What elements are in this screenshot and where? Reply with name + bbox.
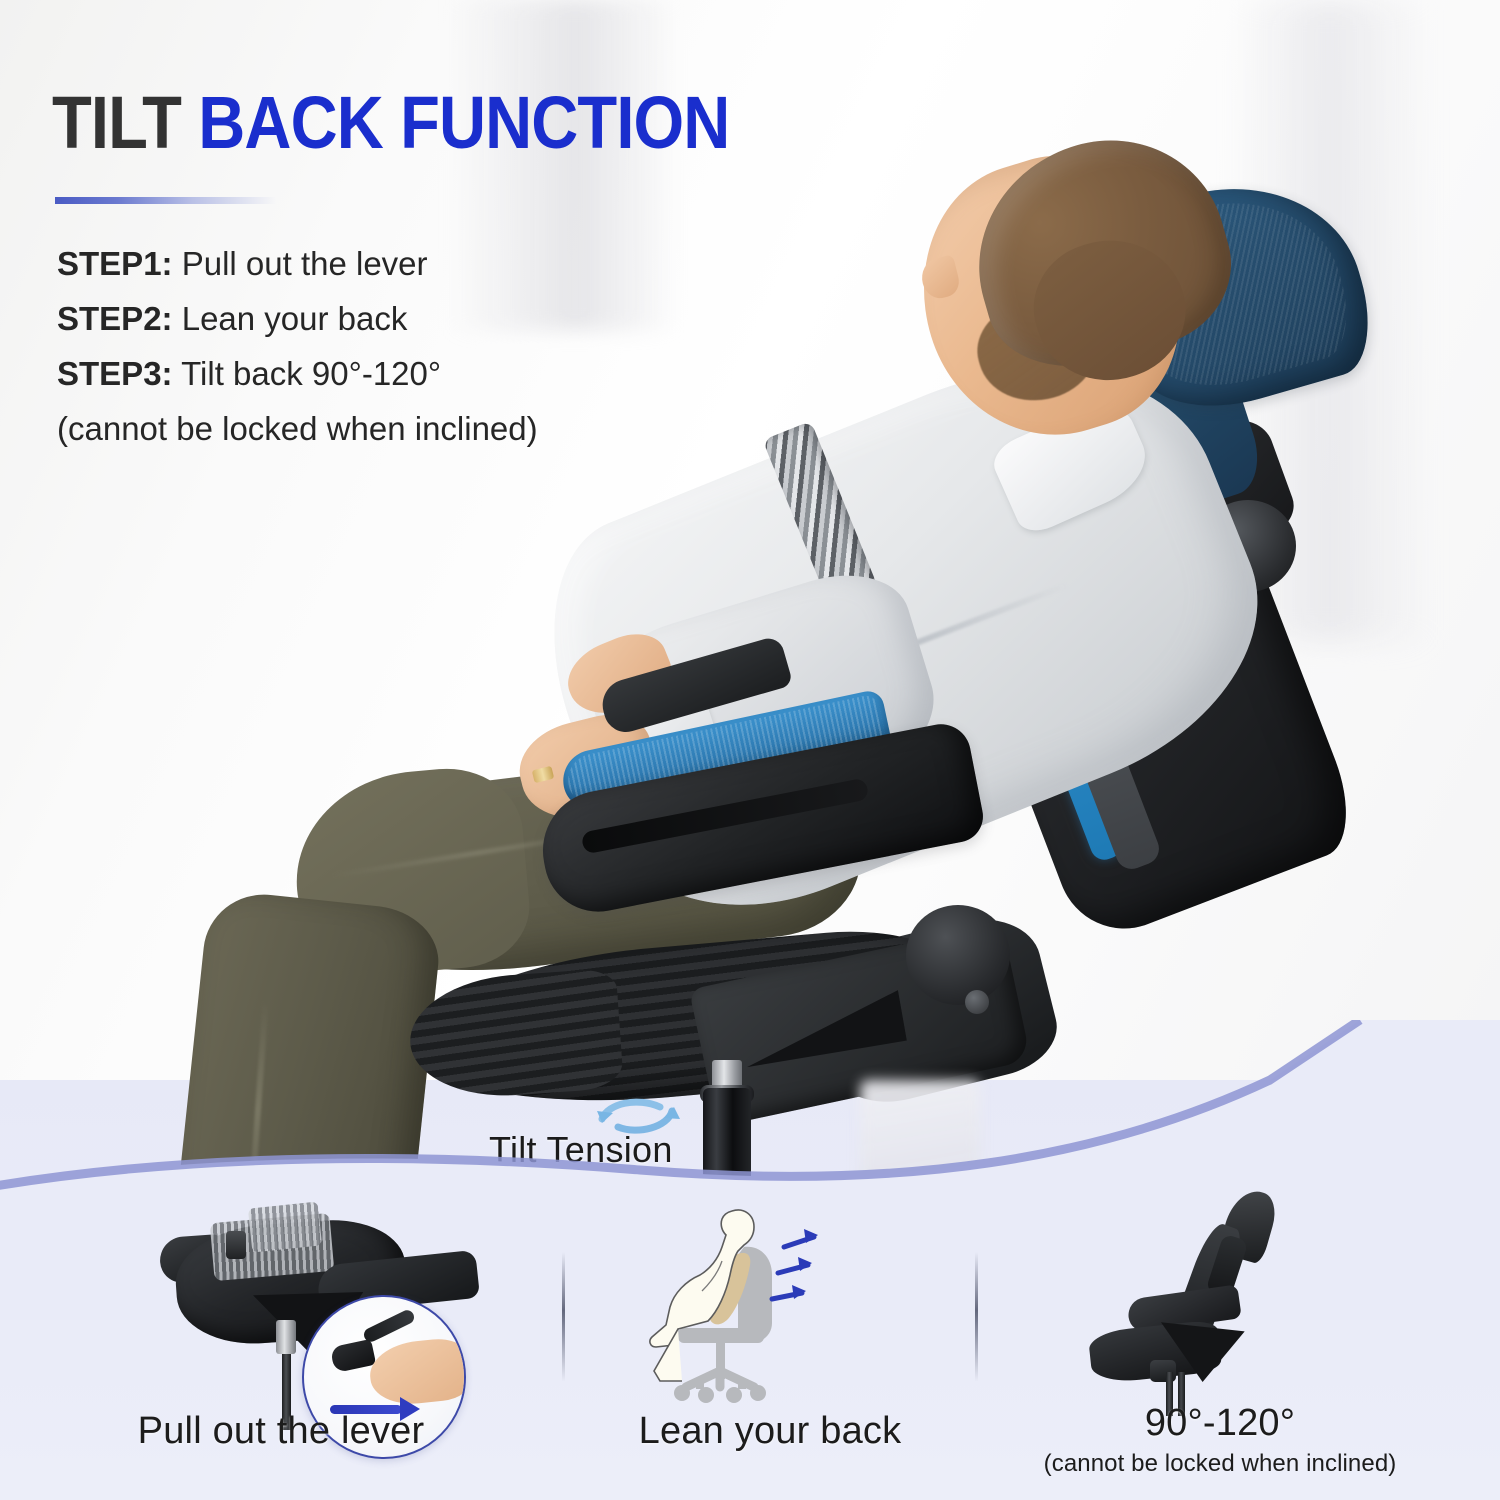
panel3-caption-note: (cannot be locked when inclined) xyxy=(985,1450,1455,1478)
title-underline-rule xyxy=(55,197,277,204)
step-key-2: STEP2: xyxy=(57,300,173,337)
panel1-caption: Pull out the lever xyxy=(46,1410,516,1453)
back-arrows-icon xyxy=(772,1229,818,1299)
panel-divider-2 xyxy=(975,1252,978,1382)
panel2-caption: Lean your back xyxy=(560,1410,980,1453)
panel1-mesh-detail-2 xyxy=(248,1201,322,1252)
lever-icon xyxy=(330,1339,376,1373)
step-text-3: Tilt back 90°-120° xyxy=(173,355,442,392)
tilt-pivot-hub xyxy=(906,905,1010,1005)
step-text-2: Lean your back xyxy=(173,300,408,337)
step-text-1: Pull out the lever xyxy=(173,245,428,282)
step-item-3: STEP3: Tilt back 90°-120° xyxy=(57,346,757,401)
tilt-pivot-bolt xyxy=(965,990,989,1014)
lever-shaft-icon xyxy=(362,1308,417,1344)
step-item-1: STEP1: Pull out the lever xyxy=(57,236,757,291)
step-key-1: STEP1: xyxy=(57,245,173,282)
page-title: TILT BACK FUNCTION xyxy=(52,86,729,160)
person-sitting-icon xyxy=(648,1195,938,1410)
title-back-function: BACK FUNCTION xyxy=(198,81,729,164)
step-item-2: STEP2: Lean your back xyxy=(57,291,757,346)
step-key-3: STEP3: xyxy=(57,355,173,392)
panel1-adjust-knob xyxy=(226,1231,246,1259)
panel-divider-1 xyxy=(562,1252,565,1382)
title-tilt: TILT xyxy=(52,81,198,164)
infographic-page: Tilt Tension TILT BACK FUNCTION STEP1: P… xyxy=(0,0,1500,1500)
steps-list: STEP1: Pull out the lever STEP2: Lean yo… xyxy=(57,236,757,456)
panel1-gas-cylinder xyxy=(276,1320,296,1354)
panel3-caption: 90°-120° xyxy=(985,1402,1455,1445)
steps-note: (cannot be locked when inclined) xyxy=(57,401,757,456)
